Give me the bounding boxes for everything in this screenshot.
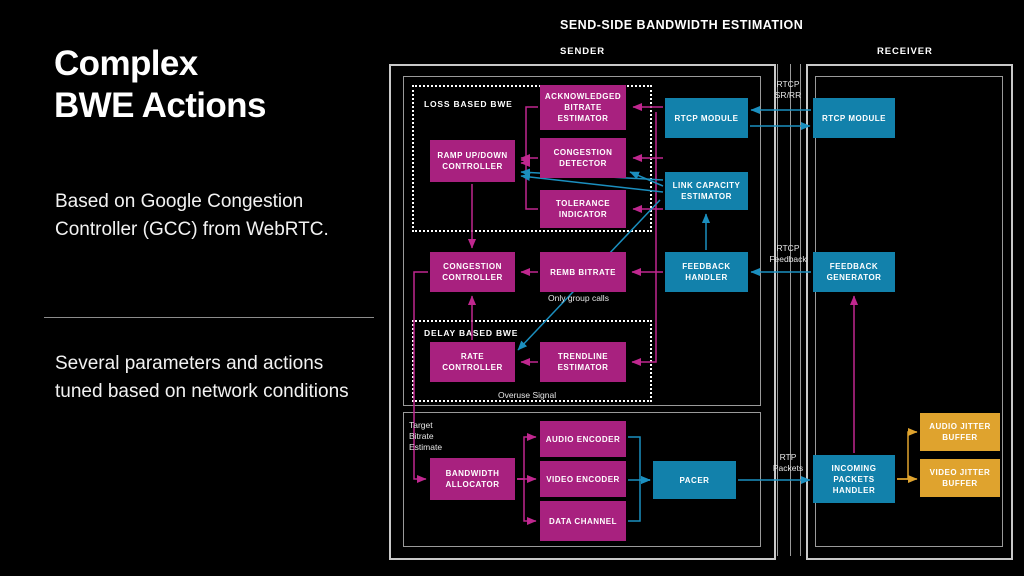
node-congestion-controller[interactable]: CONGESTION CONTROLLER [430, 252, 515, 292]
node-ramp-up-down-controller[interactable]: RAMP UP/DOWN CONTROLLER [430, 140, 515, 182]
annotation-only-group-calls: Only group calls [548, 293, 609, 304]
node-remb-bitrate[interactable]: REMB BITRATE [540, 252, 626, 292]
node-tolerance-indicator[interactable]: TOLERANCE INDICATOR [540, 190, 626, 228]
annotation-rtp-packets: RTP Packets [766, 452, 810, 474]
bandwidth-estimation-diagram: SEND-SIDE BANDWIDTH ESTIMATION SENDER RE… [0, 0, 1024, 576]
zone-label-receiver: RECEIVER [877, 46, 933, 57]
delay-based-bwe-label: DELAY BASED BWE [424, 328, 518, 338]
network-channel-line-left [777, 64, 778, 556]
node-audio-encoder[interactable]: AUDIO ENCODER [540, 421, 626, 457]
diagram-title: SEND-SIDE BANDWIDTH ESTIMATION [560, 18, 1024, 32]
loss-based-bwe-label: LOSS BASED BWE [424, 99, 513, 109]
node-incoming-packets-handler[interactable]: INCOMING PACKETS HANDLER [813, 455, 895, 503]
annotation-target-bitrate-estimate: Target Bitrate Estimate [409, 420, 442, 453]
node-bandwidth-allocator[interactable]: BANDWIDTH ALLOCATOR [430, 458, 515, 500]
node-feedback-handler[interactable]: FEEDBACK HANDLER [665, 252, 748, 292]
zone-label-sender: SENDER [560, 46, 605, 57]
node-audio-jitter-buffer[interactable]: AUDIO JITTER BUFFER [920, 413, 1000, 451]
node-video-jitter-buffer[interactable]: VIDEO JITTER BUFFER [920, 459, 1000, 497]
node-acknowledged-bitrate-estimator[interactable]: ACKNOWLEDGED BITRATE ESTIMATOR [540, 85, 626, 130]
annotation-rtcp-feedback: RTCP Feedback [768, 243, 808, 265]
network-channel-line-right [800, 64, 801, 556]
node-pacer[interactable]: PACER [653, 461, 736, 499]
node-rtcp-module-sender[interactable]: RTCP MODULE [665, 98, 748, 138]
node-video-encoder[interactable]: VIDEO ENCODER [540, 461, 626, 497]
node-rate-controller[interactable]: RATE CONTROLLER [430, 342, 515, 382]
node-trendline-estimator[interactable]: TRENDLINE ESTIMATOR [540, 342, 626, 382]
node-rtcp-module-receiver[interactable]: RTCP MODULE [813, 98, 895, 138]
node-data-channel[interactable]: DATA CHANNEL [540, 501, 626, 541]
node-link-capacity-estimator[interactable]: LINK CAPACITY ESTIMATOR [665, 172, 748, 210]
node-congestion-detector[interactable]: CONGESTION DETECTOR [540, 138, 626, 178]
annotation-overuse-signal: Overuse Signal [498, 390, 556, 401]
annotation-rtcp-sr-rr: RTCP SR/RR [768, 79, 808, 101]
node-feedback-generator[interactable]: FEEDBACK GENERATOR [813, 252, 895, 292]
network-channel-line-mid [790, 64, 791, 556]
